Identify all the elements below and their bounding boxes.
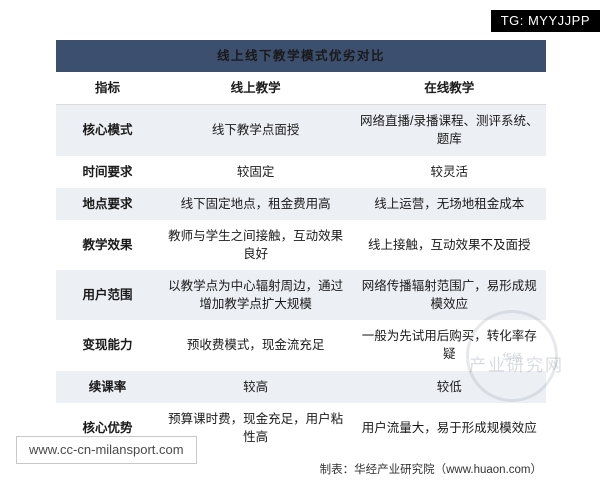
row-label: 变现能力 (56, 320, 159, 370)
row-label: 用户范围 (56, 270, 159, 320)
row-offline-value: 线下固定地点，租金费用高 (159, 188, 353, 220)
table-row: 用户范围 以教学点为中心辐射周边，通过增加教学点扩大规模 网络传播辐射范围广，易… (56, 270, 546, 320)
column-header-metric: 指标 (56, 72, 159, 105)
row-label: 教学效果 (56, 220, 159, 270)
row-label: 地点要求 (56, 188, 159, 220)
table-title-row: 线上线下教学模式优劣对比 (56, 40, 546, 72)
comparison-table: 线上线下教学模式优劣对比 指标 线上教学 在线教学 核心模式 线下教学点面授 网… (56, 40, 546, 453)
row-offline-value: 以教学点为中心辐射周边，通过增加教学点扩大规模 (159, 270, 353, 320)
table-row: 核心模式 线下教学点面授 网络直播/录播课程、测评系统、题库 (56, 105, 546, 156)
tg-tag: TG: MYYJJPP (491, 10, 600, 32)
row-offline-value: 线下教学点面授 (159, 105, 353, 156)
row-online-value: 线上运营，无场地租金成本 (352, 188, 546, 220)
comparison-table-container: 线上线下教学模式优劣对比 指标 线上教学 在线教学 核心模式 线下教学点面授 网… (56, 40, 546, 477)
table-header-row: 指标 线上教学 在线教学 (56, 72, 546, 105)
row-online-value: 较灵活 (352, 156, 546, 188)
row-online-value: 一般为先试用后购买，转化率存疑 (352, 320, 546, 370)
row-online-value: 用户流量大，易于形成规模效应 (352, 403, 546, 453)
table-row: 变现能力 预收费模式，现金流充足 一般为先试用后购买，转化率存疑 (56, 320, 546, 370)
row-offline-value: 预收费模式，现金流充足 (159, 320, 353, 370)
row-offline-value: 较固定 (159, 156, 353, 188)
row-offline-value: 较高 (159, 371, 353, 403)
row-offline-value: 教师与学生之间接触，互动效果良好 (159, 220, 353, 270)
row-label: 续课率 (56, 371, 159, 403)
row-label: 时间要求 (56, 156, 159, 188)
table-row: 教学效果 教师与学生之间接触，互动效果良好 线上接触，互动效果不及面授 (56, 220, 546, 270)
row-online-value: 网络传播辐射范围广，易形成规模效应 (352, 270, 546, 320)
row-label: 核心模式 (56, 105, 159, 156)
site-watermark-bar: www.cc-cn-milansport.com (16, 436, 197, 464)
column-header-offline: 线上教学 (159, 72, 353, 105)
table-row: 地点要求 线下固定地点，租金费用高 线上运营，无场地租金成本 (56, 188, 546, 220)
table-row: 时间要求 较固定 较灵活 (56, 156, 546, 188)
column-header-online: 在线教学 (352, 72, 546, 105)
row-online-value: 较低 (352, 371, 546, 403)
row-online-value: 线上接触，互动效果不及面授 (352, 220, 546, 270)
table-title: 线上线下教学模式优劣对比 (56, 40, 546, 72)
table-row: 续课率 较高 较低 (56, 371, 546, 403)
row-online-value: 网络直播/录播课程、测评系统、题库 (352, 105, 546, 156)
